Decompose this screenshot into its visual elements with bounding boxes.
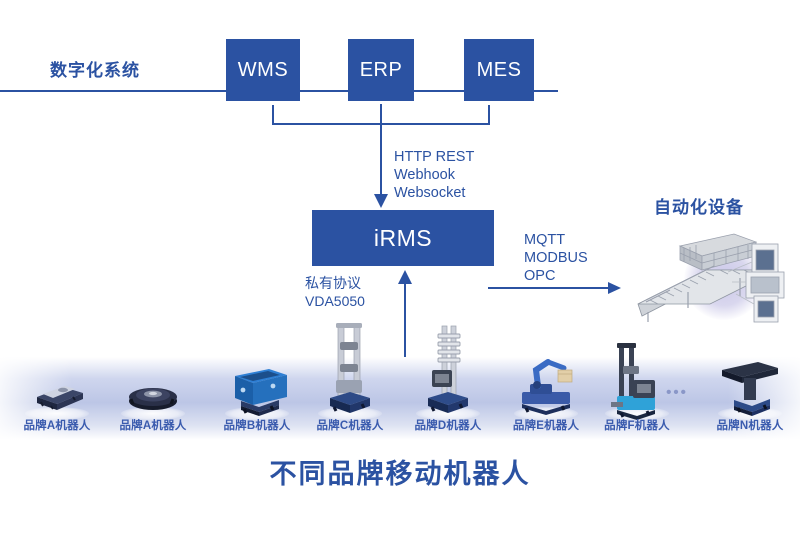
robot-agv-arm-carton-icon [496,348,596,421]
bottom-title: 不同品牌移动机器人 [0,452,800,491]
robot-agv-coil-mast-icon [398,322,498,421]
digital-systems-label: 数字化系统 [50,56,140,81]
arrow-down-line [380,104,382,198]
system-box-mes[interactable]: MES [464,39,534,101]
bracket-tick-right [488,105,490,124]
automation-equipment-icon [628,212,800,324]
diagram-canvas: 数字化系统 WMS ERP MES HTTP REST Webhook Webs… [0,0,800,542]
protocol-label-equipment: MQTT MODBUS OPC [524,231,588,285]
core-box-irms[interactable]: iRMS [312,210,494,266]
robot-agv-forklift-icon [587,340,687,421]
robot-label-8: 品牌N机器人 [700,417,800,433]
robot-label-1: 品牌A机器人 [7,417,107,433]
robot-agv-tugger-icon [700,348,800,421]
robot-label-3: 品牌B机器人 [207,417,307,433]
arrow-right-icon [608,282,621,294]
system-box-erp[interactable]: ERP [348,39,414,101]
robot-label-5: 品牌D机器人 [398,417,498,433]
robot-label-4: 品牌C机器人 [300,417,400,433]
robot-label-6: 品牌E机器人 [496,417,596,433]
arrow-right-line [488,287,610,289]
protocol-label-robots: 私有协议 VDA5050 [305,274,365,310]
robot-label-2: 品牌A机器人 [103,417,203,433]
arrow-down-icon [374,194,388,208]
system-box-wms[interactable]: WMS [226,39,300,101]
robot-agv-round-disc-icon [103,357,203,421]
bracket-tick-left [272,105,274,124]
arrow-up-icon [398,270,412,284]
robot-agv-blue-bin-icon [207,357,307,421]
robot-label-7: 品牌F机器人 [587,417,687,433]
robot-agv-tall-mast-icon [300,320,400,421]
robot-agv-low-flat-icon [7,357,107,421]
protocol-label-downstream: HTTP REST Webhook Websocket [394,148,474,202]
